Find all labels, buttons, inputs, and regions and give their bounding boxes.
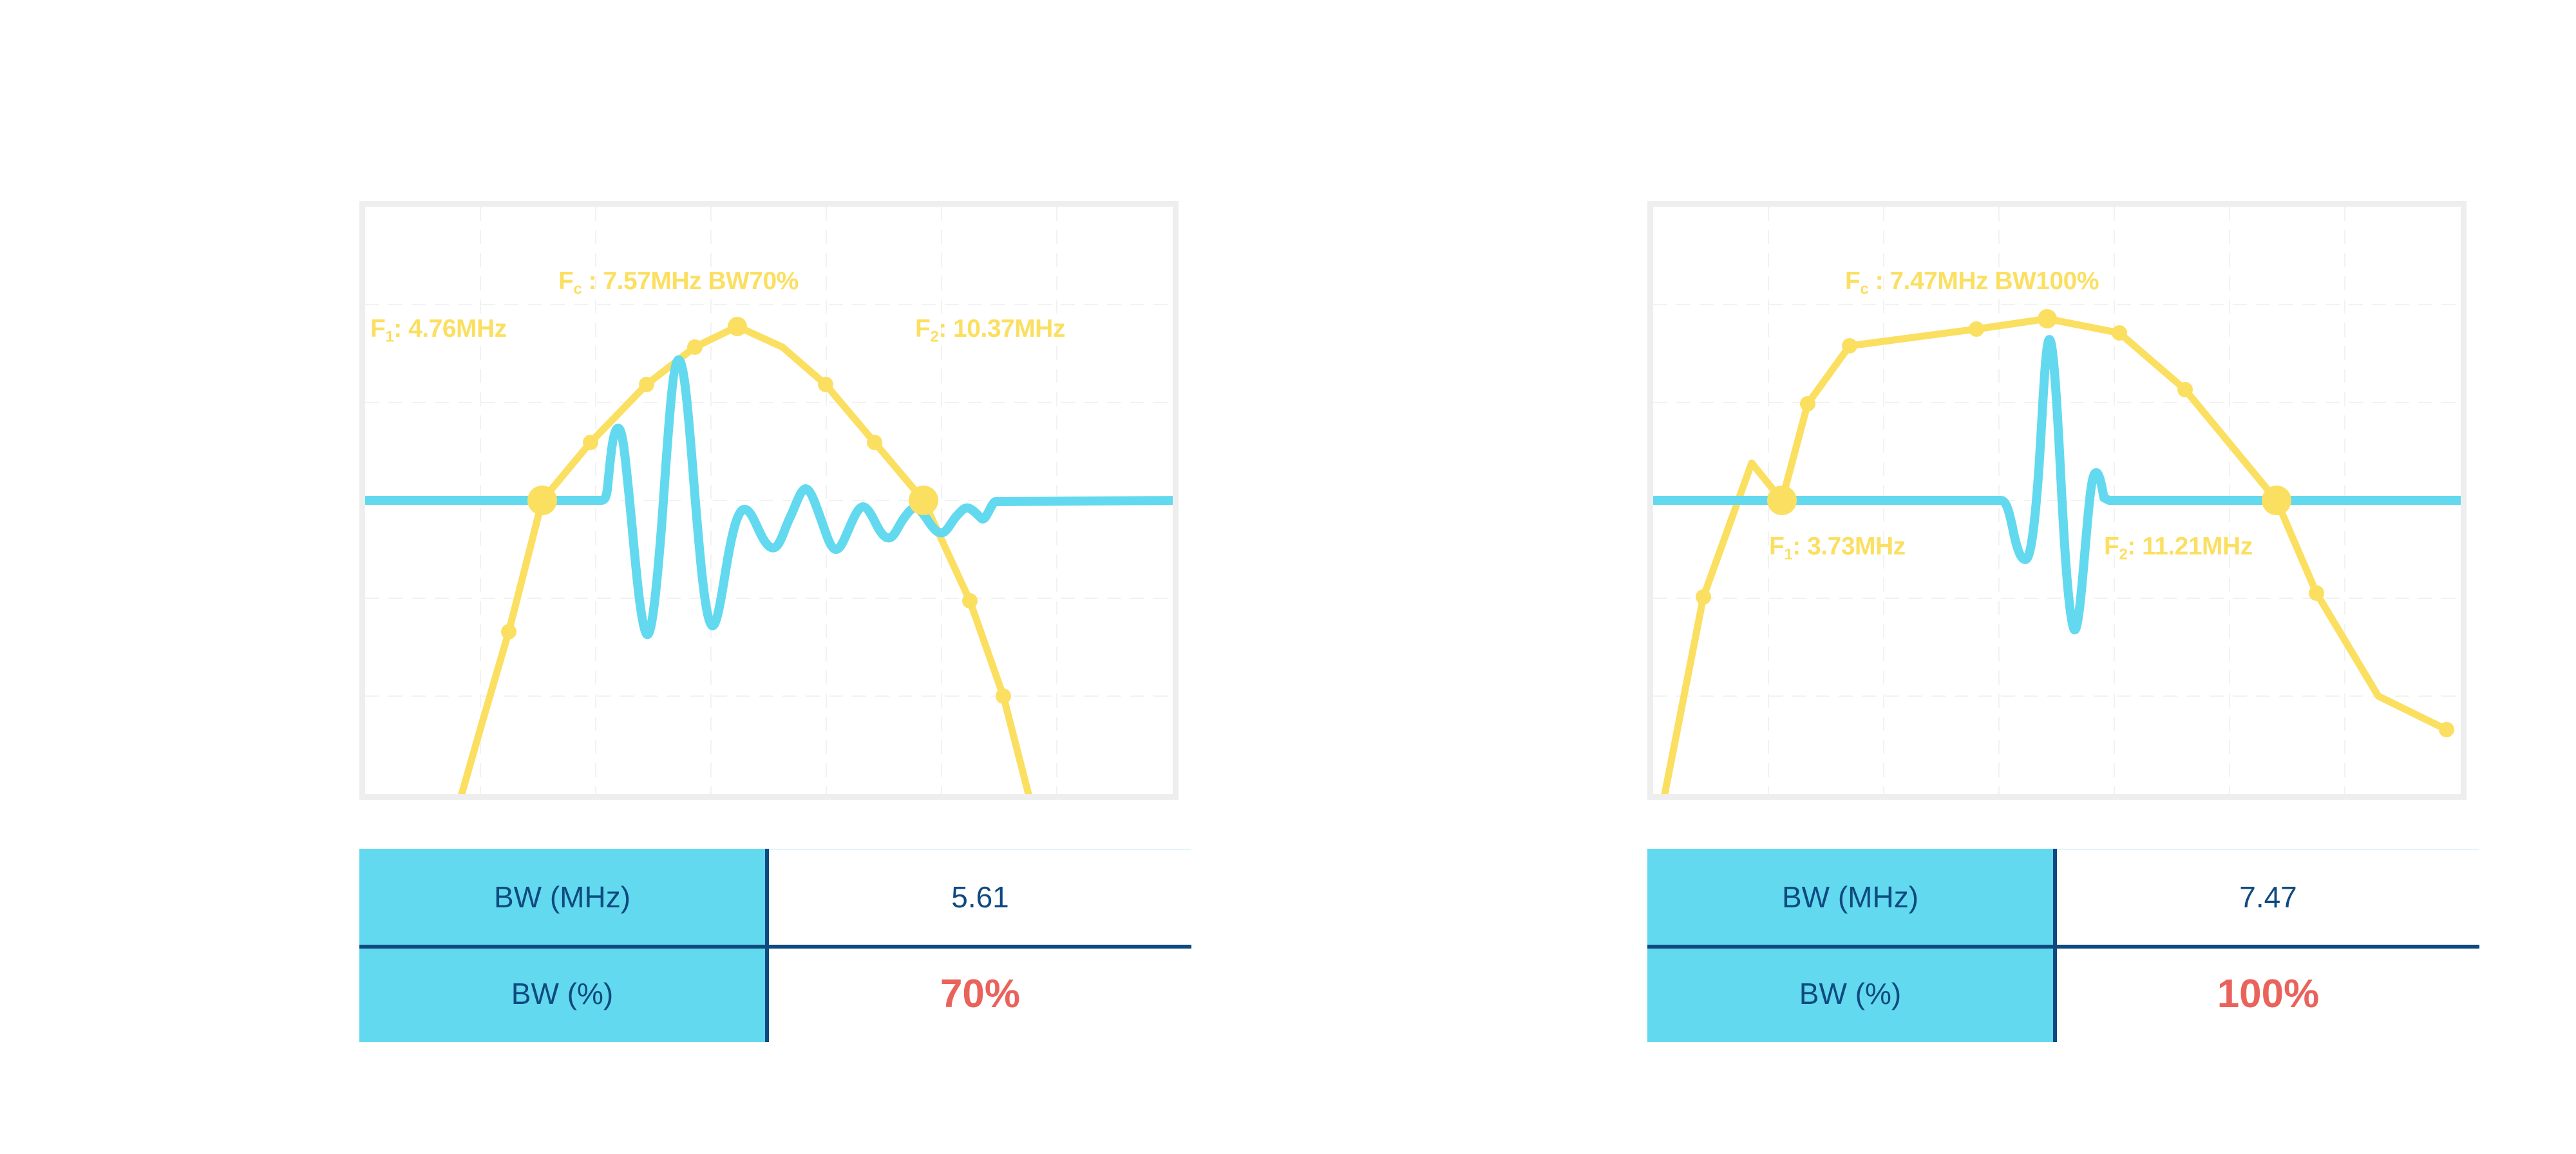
chart-card-right: Fc : 7.47MHz BW100% F1: 3.73MHz F2: 11.2… bbox=[1647, 201, 2467, 800]
f2-text: : 11.21MHz bbox=[2127, 533, 2252, 560]
fc-symbol: F bbox=[1845, 267, 1860, 295]
annotation-f2-left: F2: 10.37MHz bbox=[915, 316, 1065, 345]
bandwidth-table-right: BW (MHz) 7.47 BW (%) 100% bbox=[1647, 849, 2479, 1042]
annotation-center-frequency-right: Fc : 7.47MHz BW100% bbox=[1845, 269, 2099, 298]
fc-text: : 7.57MHz BW70% bbox=[582, 267, 799, 295]
table-row: BW (MHz) 5.61 bbox=[359, 849, 1191, 945]
fc-subscript: c bbox=[573, 281, 582, 298]
f1-marker-left bbox=[527, 486, 557, 515]
table-middle-rule-right bbox=[1647, 945, 2479, 949]
f2-subscript: 2 bbox=[2119, 546, 2127, 563]
fc-symbol: F bbox=[558, 267, 573, 295]
row-value-bw-percent: 70% bbox=[769, 945, 1191, 1042]
spectrum-curve-left bbox=[462, 326, 1028, 794]
rf-waveform-left bbox=[365, 360, 1173, 635]
spectrum-markers-left bbox=[501, 317, 1011, 704]
table-row: BW (%) 70% bbox=[359, 945, 1191, 1042]
row-label-bw-percent: BW (%) bbox=[1647, 945, 2057, 1042]
row-value-bw-mhz: 5.61 bbox=[769, 849, 1191, 945]
bandwidth-table-left: BW (MHz) 5.61 BW (%) 70% bbox=[359, 849, 1191, 1042]
f1-subscript: 1 bbox=[1784, 546, 1792, 563]
table-top-hairline-right bbox=[2057, 849, 2479, 850]
fc-subscript: c bbox=[1860, 281, 1868, 298]
panel-left: Fc : 7.57MHz BW70% F1: 4.76MHz F2: 10.37… bbox=[0, 0, 1288, 1154]
f1-text: : 4.76MHz bbox=[393, 315, 506, 343]
f2-marker-right bbox=[2262, 486, 2291, 515]
table-middle-rule-left bbox=[359, 945, 1191, 949]
row-value-bw-percent: 100% bbox=[2057, 945, 2479, 1042]
row-label-bw-mhz: BW (MHz) bbox=[1647, 849, 2057, 945]
panel-right: Fc : 7.47MHz BW100% F1: 3.73MHz F2: 11.2… bbox=[1288, 0, 2576, 1154]
f2-subscript: 2 bbox=[930, 328, 938, 346]
annotation-f2-right: F2: 11.21MHz bbox=[2104, 534, 2253, 563]
table-row: BW (MHz) 7.47 bbox=[1647, 849, 2479, 945]
f1-symbol: F bbox=[1769, 533, 1784, 560]
annotation-f1-left: F1: 4.76MHz bbox=[370, 316, 507, 345]
chart-card-left: Fc : 7.57MHz BW70% F1: 4.76MHz F2: 10.37… bbox=[359, 201, 1179, 800]
fc-text: : 7.47MHz BW100% bbox=[1868, 267, 2099, 295]
spectrum-markers-right bbox=[1696, 309, 2454, 737]
f1-symbol: F bbox=[370, 315, 385, 343]
row-value-bw-mhz: 7.47 bbox=[2057, 849, 2479, 945]
annotation-f1-right: F1: 3.73MHz bbox=[1769, 534, 1906, 563]
table-row: BW (%) 100% bbox=[1647, 945, 2479, 1042]
f2-symbol: F bbox=[2104, 533, 2119, 560]
f1-marker-right bbox=[1767, 486, 1797, 515]
comparison-stage: Fc : 7.57MHz BW70% F1: 4.76MHz F2: 10.37… bbox=[0, 0, 2576, 1154]
f1-text: : 3.73MHz bbox=[1792, 533, 1905, 560]
f2-text: : 10.37MHz bbox=[938, 315, 1065, 343]
f1-subscript: 1 bbox=[385, 328, 393, 346]
table-top-hairline-left bbox=[769, 849, 1191, 850]
row-label-bw-mhz: BW (MHz) bbox=[359, 849, 769, 945]
row-label-bw-percent: BW (%) bbox=[359, 945, 769, 1042]
rf-waveform-right bbox=[1653, 339, 2461, 630]
f2-symbol: F bbox=[915, 315, 930, 343]
annotation-center-frequency-left: Fc : 7.57MHz BW70% bbox=[558, 269, 799, 298]
f2-marker-left bbox=[909, 486, 938, 515]
